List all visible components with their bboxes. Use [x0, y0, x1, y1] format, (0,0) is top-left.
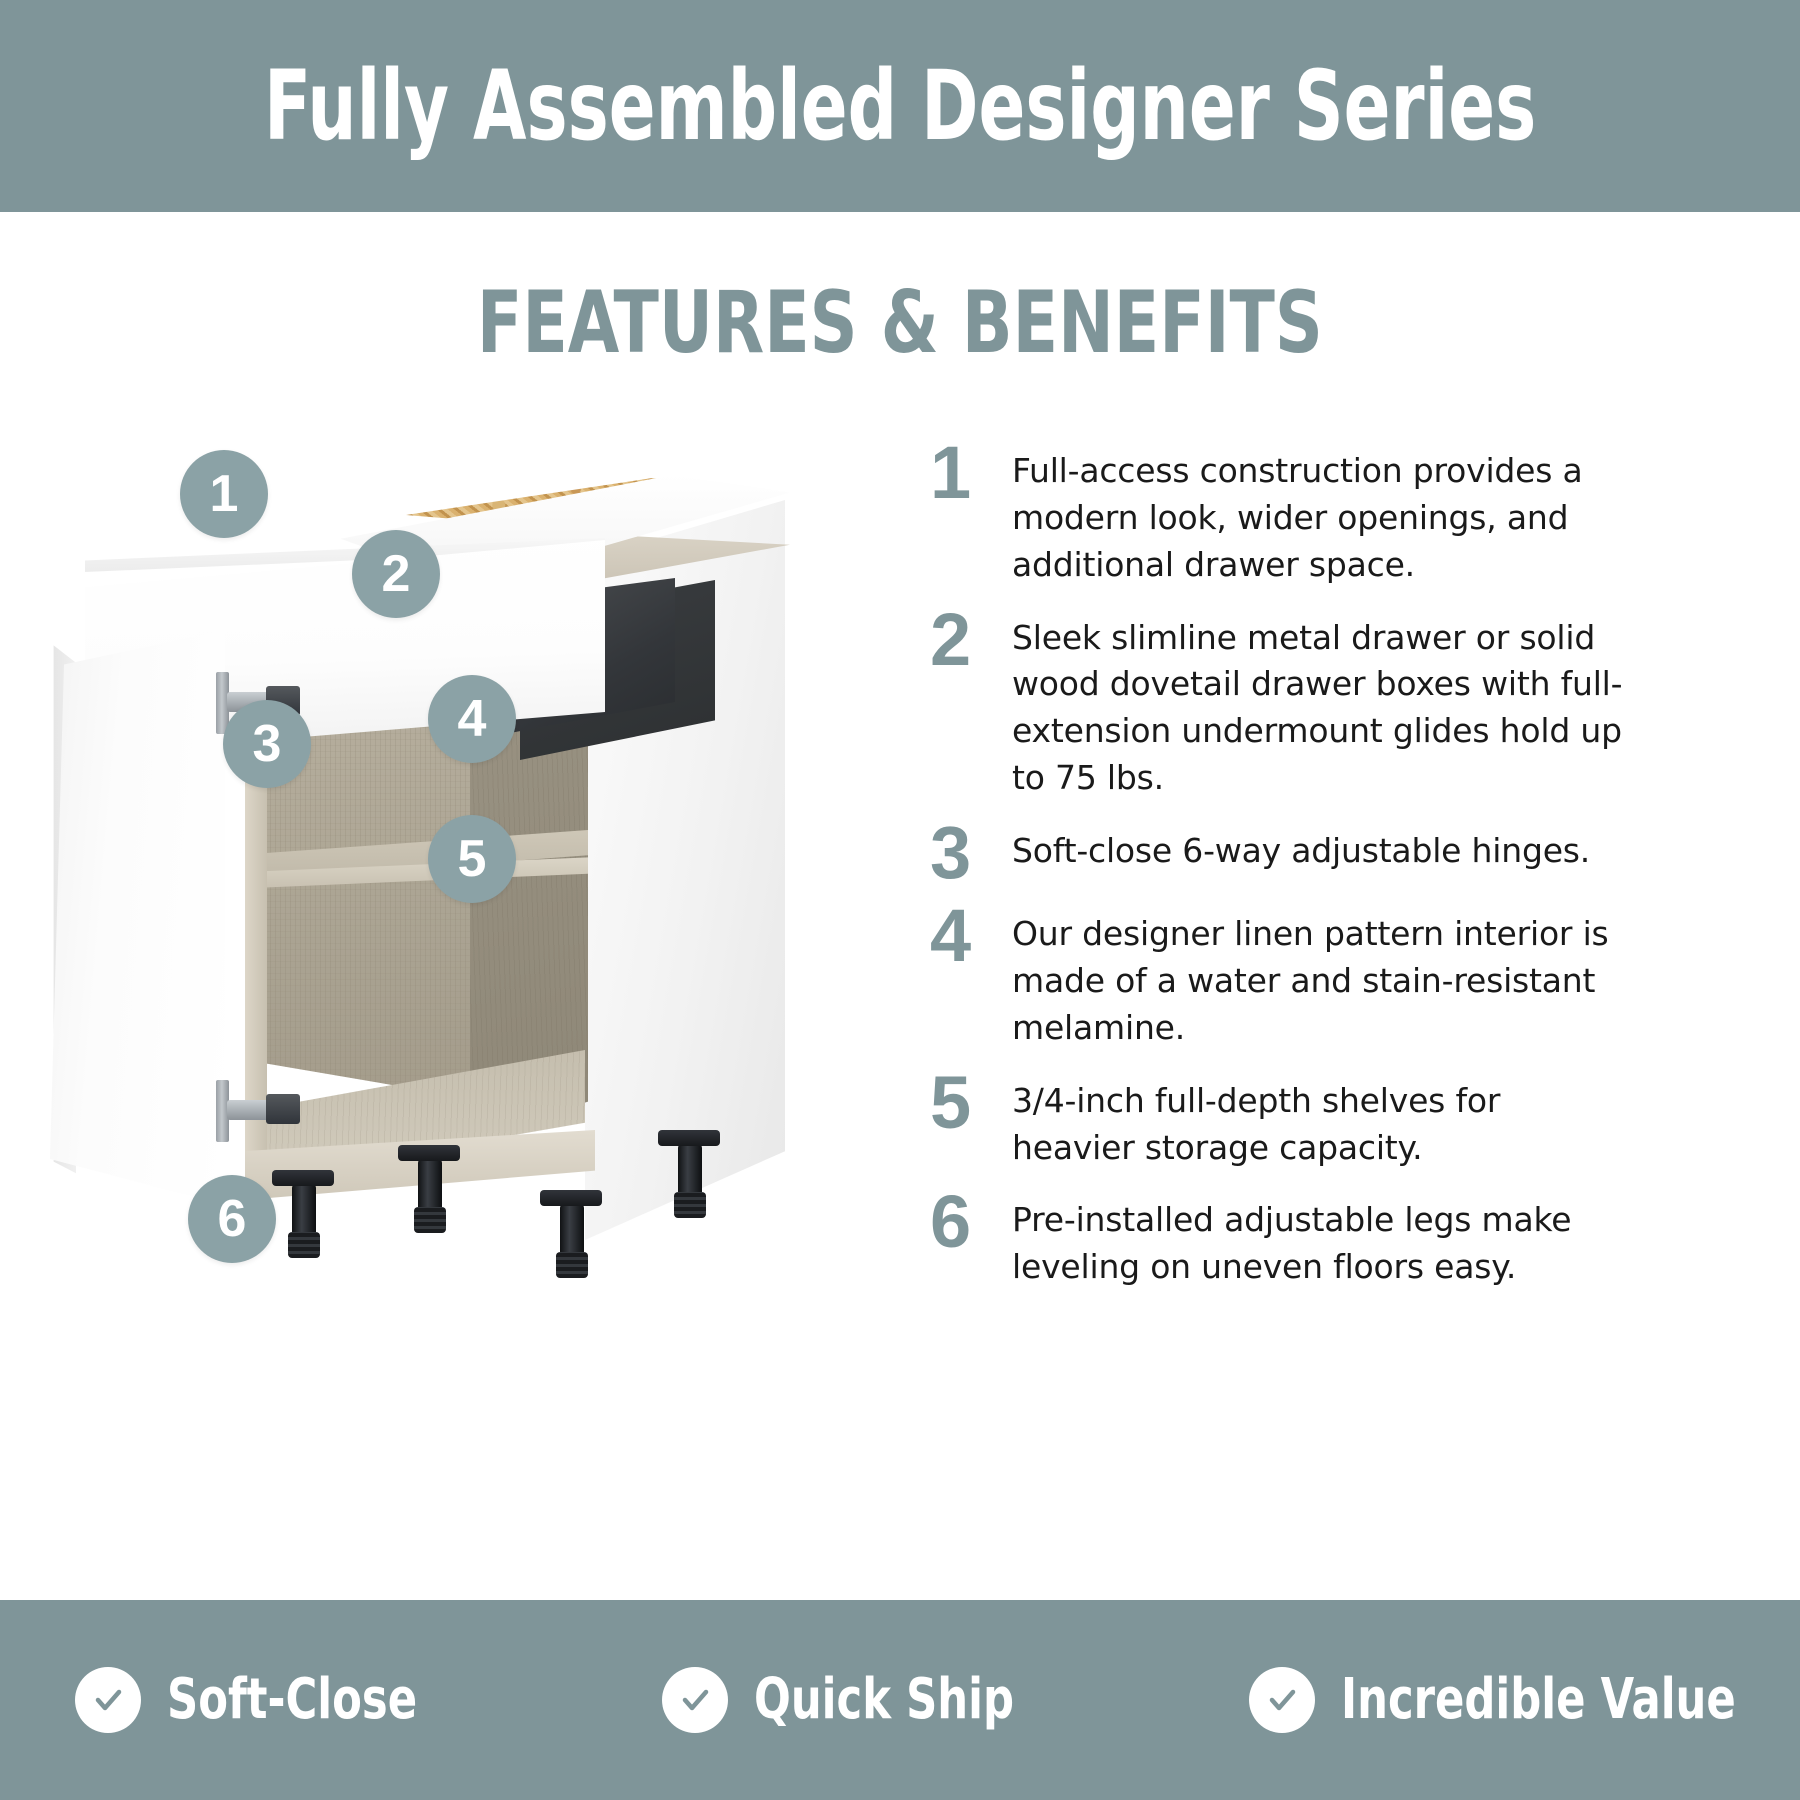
feature-description: Pre-installed adjustable legs make level…: [1012, 1197, 1630, 1291]
feature-description: Full-access construction provides a mode…: [1012, 448, 1630, 589]
feature-number: 1: [930, 440, 1012, 505]
header-bar: Fully Assembled Designer Series: [0, 0, 1800, 212]
check-icon: [662, 1667, 728, 1733]
feature-description: 3/4-inch full-depth shelves for heavier …: [1012, 1078, 1630, 1172]
feature-number: 2: [930, 607, 1012, 672]
footer-item-soft-close: Soft-Close: [0, 1667, 587, 1733]
callout-badge-4: 4: [428, 675, 516, 763]
feature-item: 1 Full-access construction provides a mo…: [930, 448, 1630, 589]
check-icon: [1249, 1667, 1315, 1733]
callout-badge-3: 3: [223, 700, 311, 788]
section-title: FEATURES & BENEFITS: [477, 280, 1323, 366]
callout-badge-1: 1: [180, 450, 268, 538]
feature-item: 6 Pre-installed adjustable legs make lev…: [930, 1197, 1630, 1291]
check-icon: [75, 1667, 141, 1733]
product-illustration: 1 2 3 4 5 6: [40, 430, 830, 1330]
footer-bar: Soft-Close Quick Ship Incredible Value: [0, 1600, 1800, 1800]
footer-label: Soft-Close: [167, 1672, 417, 1728]
feature-item: 5 3/4-inch full-depth shelves for heavie…: [930, 1078, 1630, 1172]
feature-description: Our designer linen pattern interior is m…: [1012, 911, 1630, 1052]
callout-badge-5: 5: [428, 815, 516, 903]
feature-item: 4 Our designer linen pattern interior is…: [930, 911, 1630, 1052]
header-title: Fully Assembled Designer Series: [264, 58, 1536, 154]
footer-item-quick-ship: Quick Ship: [587, 1667, 1174, 1733]
infographic-page: Fully Assembled Designer Series FEATURES…: [0, 0, 1800, 1800]
feature-description: Soft-close 6-way adjustable hinges.: [1012, 828, 1630, 875]
footer-label: Incredible Value: [1341, 1672, 1736, 1728]
feature-number: 4: [930, 903, 1012, 968]
callout-badge-2: 2: [352, 530, 440, 618]
feature-description: Sleek slimline metal drawer or solid woo…: [1012, 615, 1630, 802]
feature-number: 3: [930, 820, 1012, 885]
features-list: 1 Full-access construction provides a mo…: [930, 448, 1630, 1317]
feature-number: 5: [930, 1070, 1012, 1135]
section-title-container: FEATURES & BENEFITS: [0, 268, 1800, 378]
feature-item: 3 Soft-close 6-way adjustable hinges.: [930, 828, 1630, 885]
callout-badge-6: 6: [188, 1175, 276, 1263]
feature-item: 2 Sleek slimline metal drawer or solid w…: [930, 615, 1630, 802]
footer-item-incredible-value: Incredible Value: [1174, 1667, 1800, 1733]
soft-close-hinge-icon: [216, 1080, 306, 1144]
feature-number: 6: [930, 1189, 1012, 1254]
footer-label: Quick Ship: [754, 1672, 1014, 1728]
cabinet-door: [50, 630, 225, 1205]
